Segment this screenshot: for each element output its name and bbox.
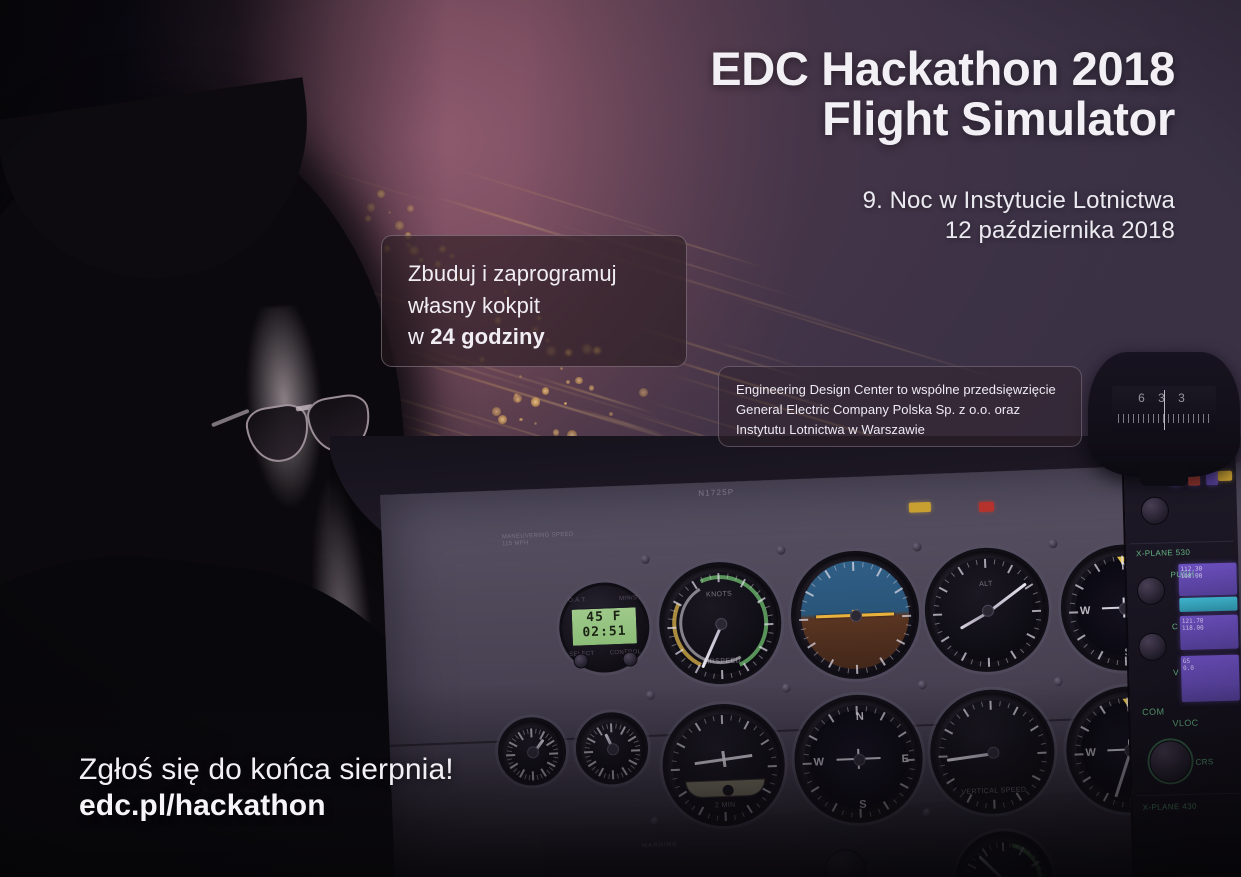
turn-coordinator: 2 MIN — [660, 702, 787, 829]
gauge-tick — [1002, 803, 1004, 808]
callout-duration: 24 godziny — [430, 324, 545, 349]
avionics-tuning-knob[interactable] — [1149, 740, 1192, 783]
gauge-tick — [549, 752, 558, 754]
compass-cardinal-s: S — [859, 799, 867, 811]
aircraft-registration: N1725P — [698, 487, 734, 497]
panel-screw — [1048, 539, 1057, 548]
gauge-tick — [874, 665, 877, 670]
altimeter: ALT — [923, 546, 1052, 675]
gauge-tick — [595, 769, 599, 774]
subtitle-line-1: 9. Noc w Instytucie Lotnictwa — [863, 186, 1175, 216]
avionics-knob-1[interactable] — [1137, 576, 1166, 605]
warning-annunciator-light — [979, 501, 994, 512]
avionics-display-2: 121.70118.00 — [1180, 615, 1239, 651]
gauge-tick — [546, 770, 550, 774]
poster-subtitle: 9. Noc w Instytucie Lotnictwa 12 paździe… — [863, 186, 1175, 246]
gauge-tick — [865, 706, 867, 711]
magnetic-compass-window: 6 3 3 — [1112, 386, 1216, 432]
compass-cardinal-e: E — [901, 753, 909, 765]
cta-headline: Zgłoś się do końca sierpnia! — [79, 752, 454, 789]
gauge-tick — [627, 768, 631, 772]
gauge-tick — [1002, 842, 1004, 851]
gauge-tick — [889, 655, 893, 659]
gauge-tick — [610, 723, 612, 732]
gauge-tick — [717, 573, 719, 582]
gauge-tick — [764, 623, 773, 625]
gauge-tick — [954, 651, 958, 656]
avionics-knob-top[interactable] — [1141, 496, 1170, 525]
gauge-tick — [979, 661, 981, 666]
secondary-gauge-left — [497, 716, 568, 787]
call-to-action: Zgłoś się do końca sierpnia! edc.pl/hack… — [79, 752, 454, 825]
panel-screw — [918, 680, 927, 689]
panel-screw — [776, 546, 785, 555]
gauge-tick — [615, 724, 617, 729]
panel-screw — [646, 691, 655, 700]
panel-screw — [912, 542, 921, 551]
poster-canvas: N1725P MANEUVERING SPEED 115 MPH 45 F 02… — [0, 0, 1241, 877]
gauge-tick — [616, 774, 618, 779]
cockpit-panel: N1725P MANEUVERING SPEED 115 MPH 45 F 02… — [330, 436, 1241, 877]
gauge-tick — [902, 615, 911, 617]
bokeh-dot — [639, 388, 649, 398]
gauge-tick — [852, 562, 854, 571]
bokeh-dot — [542, 387, 549, 394]
gauge-tick — [584, 751, 593, 753]
cta-url[interactable]: edc.pl/hackathon — [79, 788, 454, 825]
poster-title: EDC Hackathon 2018 Flight Simulator — [710, 44, 1175, 144]
gauge-tick — [970, 659, 972, 664]
bokeh-dot — [534, 422, 537, 425]
gauge-tick — [530, 728, 532, 737]
gauge-tick — [726, 574, 728, 579]
attitude-indicator — [789, 548, 922, 681]
gauge-tick — [768, 765, 777, 767]
bokeh-dot — [377, 190, 385, 198]
gauge-tick — [721, 670, 723, 679]
gauge-tick — [534, 729, 536, 734]
avionics-amber-light — [1218, 471, 1232, 481]
avionics-display-3: GS0.0 — [1181, 655, 1240, 703]
gauge-tick — [548, 767, 553, 771]
gauge-tick — [1112, 800, 1114, 805]
subtitle-line-2: 12 października 2018 — [863, 216, 1175, 246]
gauge-tick — [1095, 792, 1099, 797]
lcd-clock: 02:51 — [575, 623, 633, 640]
gauge-tick — [506, 754, 515, 756]
gauge-tick — [893, 799, 897, 803]
gauge-tick — [1075, 753, 1084, 755]
gauge-tick — [1020, 649, 1024, 653]
gauge-tick — [738, 670, 741, 675]
bokeh-dot — [575, 377, 582, 384]
gauge-tick — [671, 769, 680, 771]
bokeh-dot — [395, 221, 403, 229]
bokeh-dot — [407, 205, 414, 212]
title-line-1: EDC Hackathon 2018 — [710, 44, 1175, 94]
lcd-knob-left[interactable] — [573, 653, 589, 669]
gauge-tick — [704, 672, 706, 677]
compass-cardinal-w: W — [813, 756, 824, 768]
pilot-cap — [0, 77, 327, 298]
avionics-knob-2[interactable] — [1138, 632, 1167, 661]
gauge-tick — [877, 809, 880, 814]
bokeh-dot — [367, 203, 376, 212]
bokeh-dot — [566, 380, 570, 384]
gauge-tick — [730, 715, 732, 720]
city-light-streak — [441, 165, 689, 242]
gauge-tick — [1122, 802, 1124, 807]
avionics-display-active — [1179, 597, 1237, 613]
compass-cardinal-w: W — [1080, 605, 1091, 617]
compass-cardinal-n: N — [856, 711, 864, 723]
gauge-tick — [631, 749, 640, 751]
city-light-streak — [575, 407, 668, 437]
gauge-tick — [536, 775, 538, 780]
avionics-display-3-text: GS0.0 — [1181, 655, 1239, 675]
compass-cardinal-w: W — [1085, 747, 1096, 759]
maneuvering-speed-placard: MANEUVERING SPEED 115 MPH — [502, 532, 574, 549]
organizer-info-box: Engineering Design Center to wspólne prz… — [718, 366, 1082, 447]
gauge-tick — [933, 614, 942, 616]
avionics-label-com: COM — [1142, 707, 1164, 718]
gauge-tick — [984, 559, 986, 568]
bokeh-dot — [564, 402, 567, 405]
gauge-tick — [1032, 610, 1041, 612]
gauge-tick — [1025, 642, 1030, 646]
amber-annunciator-light — [909, 502, 931, 513]
gauge-tick — [989, 701, 991, 710]
secondary-gauge-mid — [575, 711, 650, 786]
gauge-tick — [1069, 611, 1078, 613]
gauge-tick — [524, 774, 526, 779]
gauge-tick — [976, 801, 978, 806]
callout-line-2: własny kokpit — [408, 290, 660, 322]
gauge-tick — [841, 810, 843, 815]
bokeh-dot — [365, 215, 372, 222]
gauge-tick — [820, 658, 824, 663]
avionics-unit-label-bottom: X-PLANE 430 — [1143, 802, 1197, 812]
lcd-label-oat: O.A.T. — [568, 597, 587, 605]
gauge-tick — [988, 658, 990, 667]
gauge-tick — [721, 715, 723, 724]
bokeh-dot — [560, 367, 563, 370]
magnetic-compass-lubber-line — [1164, 390, 1165, 430]
callout-line-3: w 24 godziny — [408, 321, 660, 353]
avionics-label-c: C — [1172, 622, 1178, 631]
gauge-tick — [733, 815, 735, 820]
infobox-line-1: Engineering Design Center to wspólne prz… — [736, 380, 1064, 400]
gauge-tick — [824, 802, 828, 807]
gauge-tick — [1009, 843, 1011, 848]
gauge-tick — [997, 661, 999, 666]
gauge-tick — [938, 755, 947, 757]
gauge-tick — [862, 562, 864, 567]
avionics-unit-label-top: X-PLANE 530 — [1136, 548, 1190, 558]
lcd-knob-right[interactable] — [622, 651, 638, 667]
panel-screw — [1054, 677, 1063, 686]
gauge-tick — [741, 812, 744, 817]
gauge-tick — [612, 770, 614, 779]
sunglasses-lens-left — [243, 401, 313, 466]
gauge-tick — [799, 619, 808, 621]
magnetic-compass-mount — [1140, 464, 1188, 486]
gauge-tick — [1116, 660, 1118, 665]
gauge-tick — [713, 674, 715, 679]
gauge-tick — [603, 773, 605, 778]
gauge-tick — [869, 812, 871, 817]
infobox-line-2: General Electric Company Polska Sp. z o.… — [736, 400, 1064, 420]
gauge-tick — [540, 774, 543, 779]
challenge-callout-box: Zbuduj i zaprogramuj własny kokpit w 24 … — [381, 235, 687, 367]
magnetic-compass-housing: 6 3 3 — [1088, 352, 1240, 477]
gauge-tick — [620, 772, 623, 777]
bokeh-dot — [519, 375, 522, 378]
gauge-tick — [716, 816, 718, 821]
panel-screw — [641, 555, 650, 564]
gauge-tick — [895, 649, 900, 653]
gauge-tick — [608, 774, 610, 779]
callout-line-1: Zbuduj i zaprogramuj — [408, 258, 660, 290]
gauge-tick — [630, 765, 635, 769]
gauge-tick — [532, 771, 534, 780]
infobox-line-3: Instytutu Lotnictwa w Warszawie — [736, 420, 1064, 440]
panel-screw — [782, 683, 791, 692]
gauge-tick — [1037, 752, 1046, 754]
gauge-tick — [985, 803, 987, 808]
gauge-tick — [730, 673, 732, 678]
bokeh-dot — [589, 385, 594, 390]
bokeh-dot — [388, 211, 391, 214]
gauge-tick — [993, 559, 995, 564]
title-line-2: Flight Simulator — [710, 94, 1175, 144]
callout-prefix: w — [408, 324, 430, 349]
gauge-tick — [1005, 658, 1008, 663]
lcd-screen: 45 F 02:51 — [571, 606, 638, 647]
gauge-tick — [856, 665, 858, 674]
gauge-tick — [1090, 650, 1094, 655]
digital-clock-oat-instrument: 45 F 02:51 O.A.T. MIN/S SELECT CONTROL — [558, 581, 651, 674]
gauge-tick — [1107, 658, 1109, 663]
avionics-label-vloc: VLOC — [1172, 718, 1198, 729]
gauge-tick — [724, 812, 726, 821]
gauge-tick — [838, 666, 840, 671]
gauge-tick — [993, 800, 995, 809]
instrument-panel-face: N1725P MANEUVERING SPEED 115 MPH 45 F 02… — [380, 461, 1241, 877]
gauge-tick — [999, 701, 1001, 706]
avionics-display-2-text: 121.70118.00 — [1180, 615, 1238, 635]
avionics-divider — [1136, 793, 1240, 797]
gauge-tick — [899, 793, 904, 797]
bokeh-dot — [531, 397, 541, 407]
gauge-tick — [851, 812, 853, 817]
avionics-label-crs: PUSH — [1170, 570, 1194, 580]
gauge-tick — [1011, 800, 1014, 805]
lcd-label-mins: MIN/S — [619, 595, 637, 603]
gauge-tick — [803, 763, 812, 765]
avionics-label-v: V — [1173, 668, 1179, 677]
avionics-display-1: 112.30108.00 — [1178, 563, 1237, 597]
avionics-label-push: CRS — [1195, 757, 1213, 766]
gauge-tick — [528, 775, 530, 780]
avionics-stack: X-PLANE 530 112.30108.00 121.70118.00 GS… — [1122, 455, 1241, 877]
gauge-tick — [707, 814, 709, 819]
gauge-tick — [865, 668, 867, 673]
airspeed-indicator: KNOTS AIRSPEED — [657, 560, 784, 687]
bokeh-dot — [553, 429, 559, 435]
city-light-streak — [533, 375, 657, 415]
avionics-divider — [1130, 541, 1234, 545]
gauge-tick — [847, 668, 849, 673]
gauge-tick — [667, 627, 676, 629]
bokeh-dot — [609, 412, 613, 416]
